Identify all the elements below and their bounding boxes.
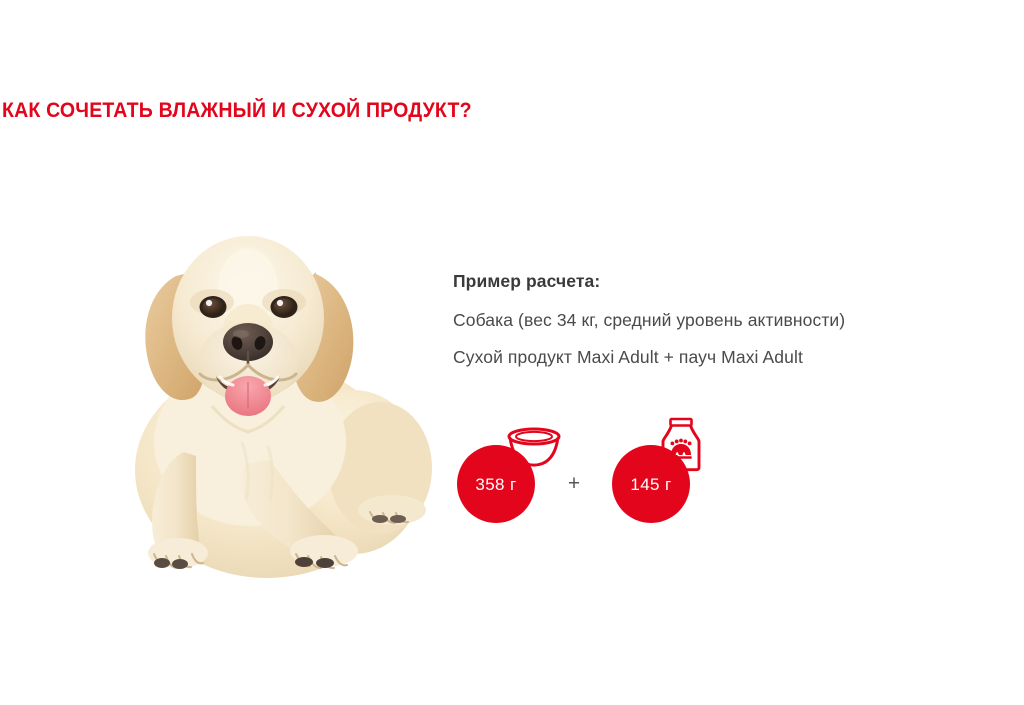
plus-operator: + [563,473,585,495]
calculation-line-dog: Собака (вес 34 кг, средний уровень актив… [453,310,973,331]
dog-bowl-icon [503,427,565,467]
dog-photo [92,210,452,590]
calculation-block: Пример расчета: Собака (вес 34 кг, средн… [453,271,973,368]
page-title: КАК СОЧЕТАТЬ ВЛАЖНЫЙ И СУХОЙ ПРОДУКТ? [2,99,472,123]
calculation-line-products: Сухой продукт Maxi Adult + пауч Maxi Adu… [453,347,973,368]
food-pouch-icon [658,417,704,473]
calculation-title: Пример расчета: [453,271,973,292]
amount-value-wet: 145 г [630,476,671,493]
slide-canvas: КАК СОЧЕТАТЬ ВЛАЖНЫЙ И СУХОЙ ПРОДУКТ? [0,0,1024,705]
amount-value-dry: 358 г [475,476,516,493]
labrador-illustration [92,210,452,590]
